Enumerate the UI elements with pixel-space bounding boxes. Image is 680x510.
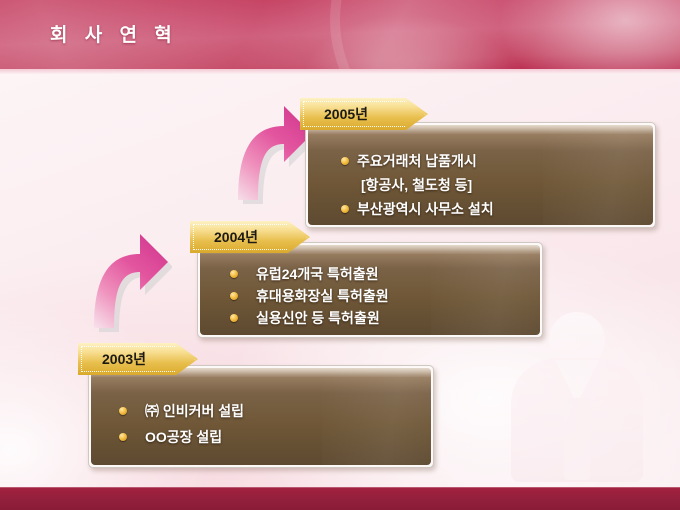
content-panel-2005: 주요거래처 납품개시 [항공사, 철도청 등] 부산광역시 사무소 설치 (305, 122, 656, 228)
header-bottom-strip (0, 69, 680, 74)
list-item-label: OO공장 설립 (145, 429, 222, 445)
bullet-icon (341, 157, 349, 165)
year-tab-2004[interactable]: 2004년 (190, 221, 310, 253)
list-item: 주요거래처 납품개시 (341, 149, 494, 173)
header-arc-decoration (330, 0, 680, 71)
list-item: [항공사, 철도청 등] (341, 173, 494, 197)
list-item: 휴대용화장실 특허출원 (230, 285, 389, 307)
watermark-tie (564, 398, 590, 480)
list-item: 실용신안 등 특허출원 (230, 307, 389, 329)
list-item: OO공장 설립 (119, 424, 244, 450)
year-tab-label: 2004년 (190, 227, 258, 247)
list-item: 유럽24개국 특허출원 (230, 263, 389, 285)
list-item-label: 부산광역시 사무소 설치 (357, 201, 494, 217)
list-item-label: 주요거래처 납품개시 (357, 153, 477, 169)
list-item-label: [항공사, 철도청 등] (361, 177, 472, 193)
year-tab-2005[interactable]: 2005년 (300, 98, 428, 130)
bullet-icon (230, 314, 238, 322)
list-item-label: ㈜ 인비커버 설립 (145, 403, 244, 419)
list-item-label: 휴대용화장실 특허출원 (256, 288, 389, 304)
bullet-icon (119, 433, 127, 441)
list-item: ㈜ 인비커버 설립 (119, 398, 244, 424)
bullet-icon (230, 270, 238, 278)
slide-footer-bar (0, 487, 680, 510)
year-tab-label: 2005년 (300, 104, 368, 124)
bullet-icon (230, 292, 238, 300)
year-tab-label: 2003년 (78, 349, 146, 369)
list-item-label: 실용신안 등 특허출원 (256, 310, 380, 326)
arrow-2003-to-2004 (88, 222, 172, 332)
content-panel-2004: 유럽24개국 특허출원 휴대용화장실 특허출원 실용신안 등 특허출원 (197, 242, 543, 338)
bullet-icon (119, 407, 127, 415)
slide-root: 회 사 연 혁 (0, 0, 680, 510)
content-panel-2003: ㈜ 인비커버 설립 OO공장 설립 (88, 365, 434, 468)
bullet-icon (341, 205, 349, 213)
list-item-label: 유럽24개국 특허출원 (256, 266, 379, 282)
page-title: 회 사 연 혁 (50, 20, 178, 47)
list-item: 부산광역시 사무소 설치 (341, 197, 494, 221)
year-tab-2003[interactable]: 2003년 (78, 343, 198, 375)
